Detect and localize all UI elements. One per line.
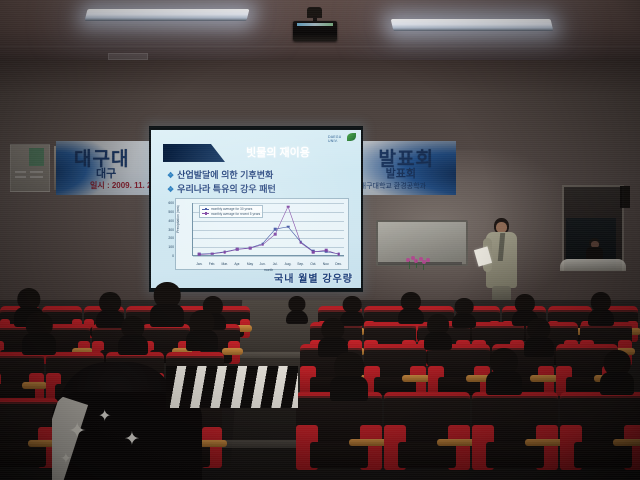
audience-member [330, 352, 368, 398]
auditorium-seat [472, 392, 558, 470]
audience-body [118, 335, 148, 355]
chart-data-point [198, 253, 201, 256]
seat-armrest [22, 382, 48, 389]
audience-member [286, 296, 308, 322]
auditorium-seat [384, 392, 470, 470]
seat-armrest [530, 375, 557, 382]
seat-cushion [310, 442, 368, 469]
chart-line [199, 227, 338, 254]
notice-graphic [29, 148, 44, 166]
chart-x-tick: Jun. [260, 262, 266, 266]
slide-bullet-2-text: 우리나라 특유의 강우 패턴 [177, 184, 276, 194]
chart-legend: monthly average for 30 yearsmonthly aver… [199, 205, 263, 218]
wall-notice-board [10, 144, 50, 192]
chart-y-tick: 200 [162, 236, 174, 240]
chart-x-tick: Aug. [285, 262, 292, 266]
chart-y-tick: 100 [162, 245, 174, 249]
bullet-diamond-icon: ❖ [167, 171, 174, 180]
slide-bullet-1: ❖산업발달에 의한 기후변화 [167, 168, 273, 181]
audience-member [398, 292, 424, 322]
audience-body [398, 308, 424, 325]
audience-body [588, 309, 614, 327]
audience-body [22, 333, 56, 355]
chart-data-point [223, 251, 226, 254]
chart-y-tick: 500 [162, 210, 174, 214]
auditorium-seat [364, 344, 426, 396]
chart-data-point [211, 253, 214, 256]
audience-body [150, 304, 184, 327]
chart-y-tick: 300 [162, 228, 174, 232]
legend-label: monthly average for recent 5 years [211, 212, 260, 217]
flower-arrangement [404, 256, 430, 270]
foreground-striped-sleeve [166, 366, 298, 408]
chart-data-point [299, 241, 302, 244]
chart-data-point [337, 253, 340, 256]
audience-member [588, 292, 614, 324]
chart-gridline [193, 256, 344, 257]
legend-swatch [202, 213, 209, 214]
chart-data-point [236, 248, 239, 251]
bullet-diamond-icon: ❖ [167, 185, 174, 194]
chart-data-point [274, 228, 277, 231]
precipitation-chart: Precipitation (mm) 0100200300400500600 J… [175, 198, 349, 270]
slide-caption: 국내 월별 강우량 [274, 270, 353, 285]
auditorium-photo: 대구대 발표회 대구 발표회 일시 : 2009. 11. 20(금) 대구대학… [0, 0, 640, 480]
wall-speaker-icon [620, 186, 630, 208]
star-pattern-icon: ✦ [124, 428, 140, 451]
chart-y-tick: 600 [162, 201, 174, 205]
audience-body [524, 337, 554, 357]
audience-body [330, 376, 368, 401]
chart-x-tick: Mar. [221, 262, 227, 266]
chart-legend-item: monthly average for recent 5 years [202, 212, 260, 217]
audience-body [486, 371, 522, 395]
seat-armrest [613, 439, 640, 446]
audience-member [318, 318, 348, 354]
chart-y-tick: 0 [162, 254, 174, 258]
chart-y-tick: 400 [162, 219, 174, 223]
auditorium-seat [0, 398, 58, 468]
slide-title: 빗물의 재이용 [213, 145, 343, 161]
seat-armrest [349, 439, 387, 446]
audience-member [186, 310, 218, 348]
chart-data-point [312, 251, 315, 254]
chart-data-point [274, 233, 277, 236]
seat-armrest [525, 439, 563, 446]
banner-department: 대구대학교 환경공학과 [360, 181, 426, 191]
chart-x-tick: Sep. [297, 262, 304, 266]
chart-plot-area: Jan.Feb.Mar.Apr.MayJun.Jul.Aug.Sep.Oct.N… [192, 203, 344, 256]
chart-data-point [261, 243, 264, 246]
chart-x-tick: Feb. [209, 262, 216, 266]
audience-body [424, 332, 452, 351]
logo-text: DAEGU UNIV. [328, 135, 347, 143]
seat-armrest [437, 439, 475, 446]
legend-swatch [202, 209, 209, 210]
star-pattern-icon: ✦ [98, 406, 111, 426]
audience-member [486, 348, 522, 392]
leaf-icon [347, 133, 356, 141]
chart-data-point [249, 247, 252, 250]
ceiling-vent [108, 53, 148, 60]
seat-cushion [486, 442, 544, 469]
university-logo-icon: DAEGU UNIV. [328, 133, 356, 142]
audience-member [118, 316, 148, 352]
seat-cushion [574, 442, 632, 469]
auditorium-seat [0, 352, 44, 402]
banner-subtitle-left: 대구 [96, 165, 116, 181]
audience-body [600, 372, 634, 395]
auditorium-seat [560, 392, 640, 470]
chart-x-tick: Nov. [323, 262, 330, 266]
auditorium-seat [296, 392, 382, 470]
fluorescent-light-right [391, 19, 554, 31]
chart-x-tick: May [247, 262, 253, 266]
audience-body [186, 330, 218, 351]
chart-y-axis-label: Precipitation (mm) [176, 197, 180, 241]
projector-lens [297, 23, 333, 26]
seat-armrest [402, 375, 429, 382]
chart-data-point [287, 226, 290, 229]
audience-member [150, 282, 184, 324]
fluorescent-light-left [85, 9, 250, 21]
audience-member [452, 298, 476, 326]
chart-x-axis-label: month [264, 268, 273, 272]
chart-x-tick: Dec. [335, 262, 342, 266]
slide-bullet-2: ❖우리나라 특유의 강우 패턴 [167, 182, 276, 195]
audience-member [424, 314, 452, 348]
ceiling-seam [0, 46, 640, 47]
chart-data-point [325, 249, 328, 252]
auditorium-seat [428, 344, 490, 396]
chart-data-point [287, 205, 290, 208]
seat-armrest [222, 348, 243, 355]
audience-member [524, 318, 554, 354]
chart-x-tick: Jul. [273, 262, 278, 266]
audience-member [600, 350, 634, 392]
seat-cushion [398, 442, 456, 469]
chart-x-tick: Jan. [196, 262, 202, 266]
audience-body [452, 313, 476, 328]
banner-subtitle-right: 발표회 [386, 165, 416, 181]
chart-x-tick: Oct. [310, 262, 316, 266]
projector-icon [293, 7, 337, 41]
projected-slide: DAEGU UNIV. 빗물의 재이용 ❖산업발달에 의한 기후변화 ❖우리나라… [151, 130, 361, 288]
slide-bullet-1-text: 산업발달에 의한 기후변화 [177, 170, 273, 180]
booth-desk [560, 259, 626, 271]
audience-member [22, 312, 56, 352]
chart-x-tick: Apr. [234, 262, 240, 266]
audience-body [286, 310, 308, 324]
